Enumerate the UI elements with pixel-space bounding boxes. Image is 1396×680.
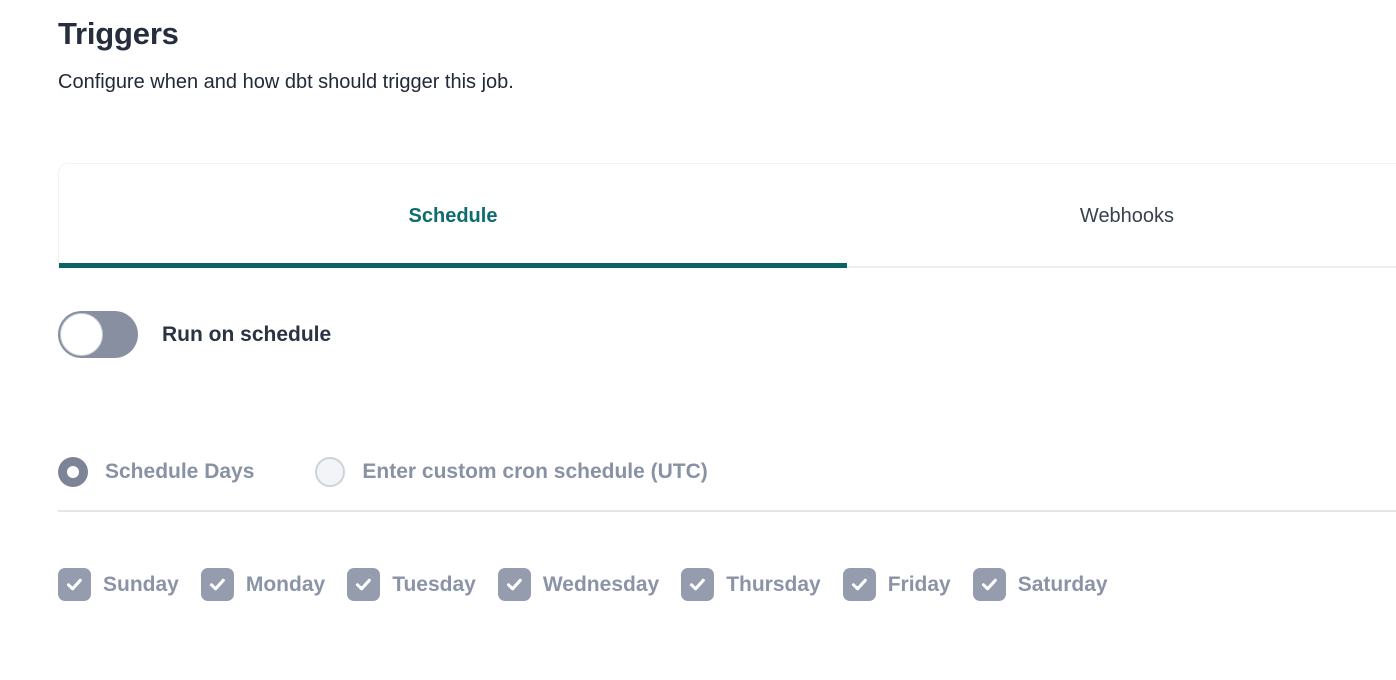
run-on-schedule-row: Run on schedule	[58, 311, 331, 358]
day-option-saturday[interactable]: Saturday	[973, 568, 1108, 601]
active-tab-indicator	[59, 263, 847, 268]
section-divider	[58, 510, 1396, 512]
tab-schedule[interactable]: Schedule	[59, 164, 847, 268]
toggle-knob	[60, 313, 103, 356]
day-label-friday: Friday	[888, 573, 951, 597]
day-label-tuesday: Tuesday	[392, 573, 476, 597]
day-label-wednesday: Wednesday	[543, 573, 659, 597]
tab-schedule-label: Schedule	[409, 205, 498, 228]
day-label-saturday: Saturday	[1018, 573, 1108, 597]
tab-bottom-border	[847, 266, 1396, 268]
radio-label-custom-cron: Enter custom cron schedule (UTC)	[362, 460, 707, 484]
checkbox-checked-icon[interactable]	[58, 568, 91, 601]
page-title: Triggers	[58, 0, 1396, 54]
day-option-wednesday[interactable]: Wednesday	[498, 568, 659, 601]
checkbox-checked-icon[interactable]	[347, 568, 380, 601]
run-on-schedule-label: Run on schedule	[162, 323, 331, 347]
triggers-tab-card: Schedule Webhooks	[58, 163, 1396, 268]
day-label-thursday: Thursday	[726, 573, 821, 597]
tab-strip: Schedule Webhooks	[59, 164, 1396, 268]
schedule-mode-radio-group: Schedule Days Enter custom cron schedule…	[58, 457, 708, 487]
tab-webhooks[interactable]: Webhooks	[847, 164, 1396, 268]
checkbox-checked-icon[interactable]	[681, 568, 714, 601]
day-option-thursday[interactable]: Thursday	[681, 568, 821, 601]
radio-label-schedule-days: Schedule Days	[105, 460, 254, 484]
checkbox-checked-icon[interactable]	[498, 568, 531, 601]
day-option-sunday[interactable]: Sunday	[58, 568, 179, 601]
tab-webhooks-label: Webhooks	[1080, 205, 1174, 228]
day-option-tuesday[interactable]: Tuesday	[347, 568, 476, 601]
schedule-days-row: Sunday Monday Tuesday Wednesday Thursday	[58, 568, 1108, 601]
triggers-page: Triggers Configure when and how dbt shou…	[0, 0, 1396, 680]
day-label-monday: Monday	[246, 573, 325, 597]
radio-unselected-icon[interactable]	[315, 457, 345, 487]
radio-option-custom-cron[interactable]: Enter custom cron schedule (UTC)	[315, 457, 707, 487]
day-option-monday[interactable]: Monday	[201, 568, 325, 601]
radio-selected-icon[interactable]	[58, 457, 88, 487]
radio-option-schedule-days[interactable]: Schedule Days	[58, 457, 254, 487]
run-on-schedule-toggle[interactable]	[58, 311, 138, 358]
page-subtitle: Configure when and how dbt should trigge…	[58, 54, 1396, 95]
day-option-friday[interactable]: Friday	[843, 568, 951, 601]
checkbox-checked-icon[interactable]	[843, 568, 876, 601]
checkbox-checked-icon[interactable]	[973, 568, 1006, 601]
day-label-sunday: Sunday	[103, 573, 179, 597]
checkbox-checked-icon[interactable]	[201, 568, 234, 601]
